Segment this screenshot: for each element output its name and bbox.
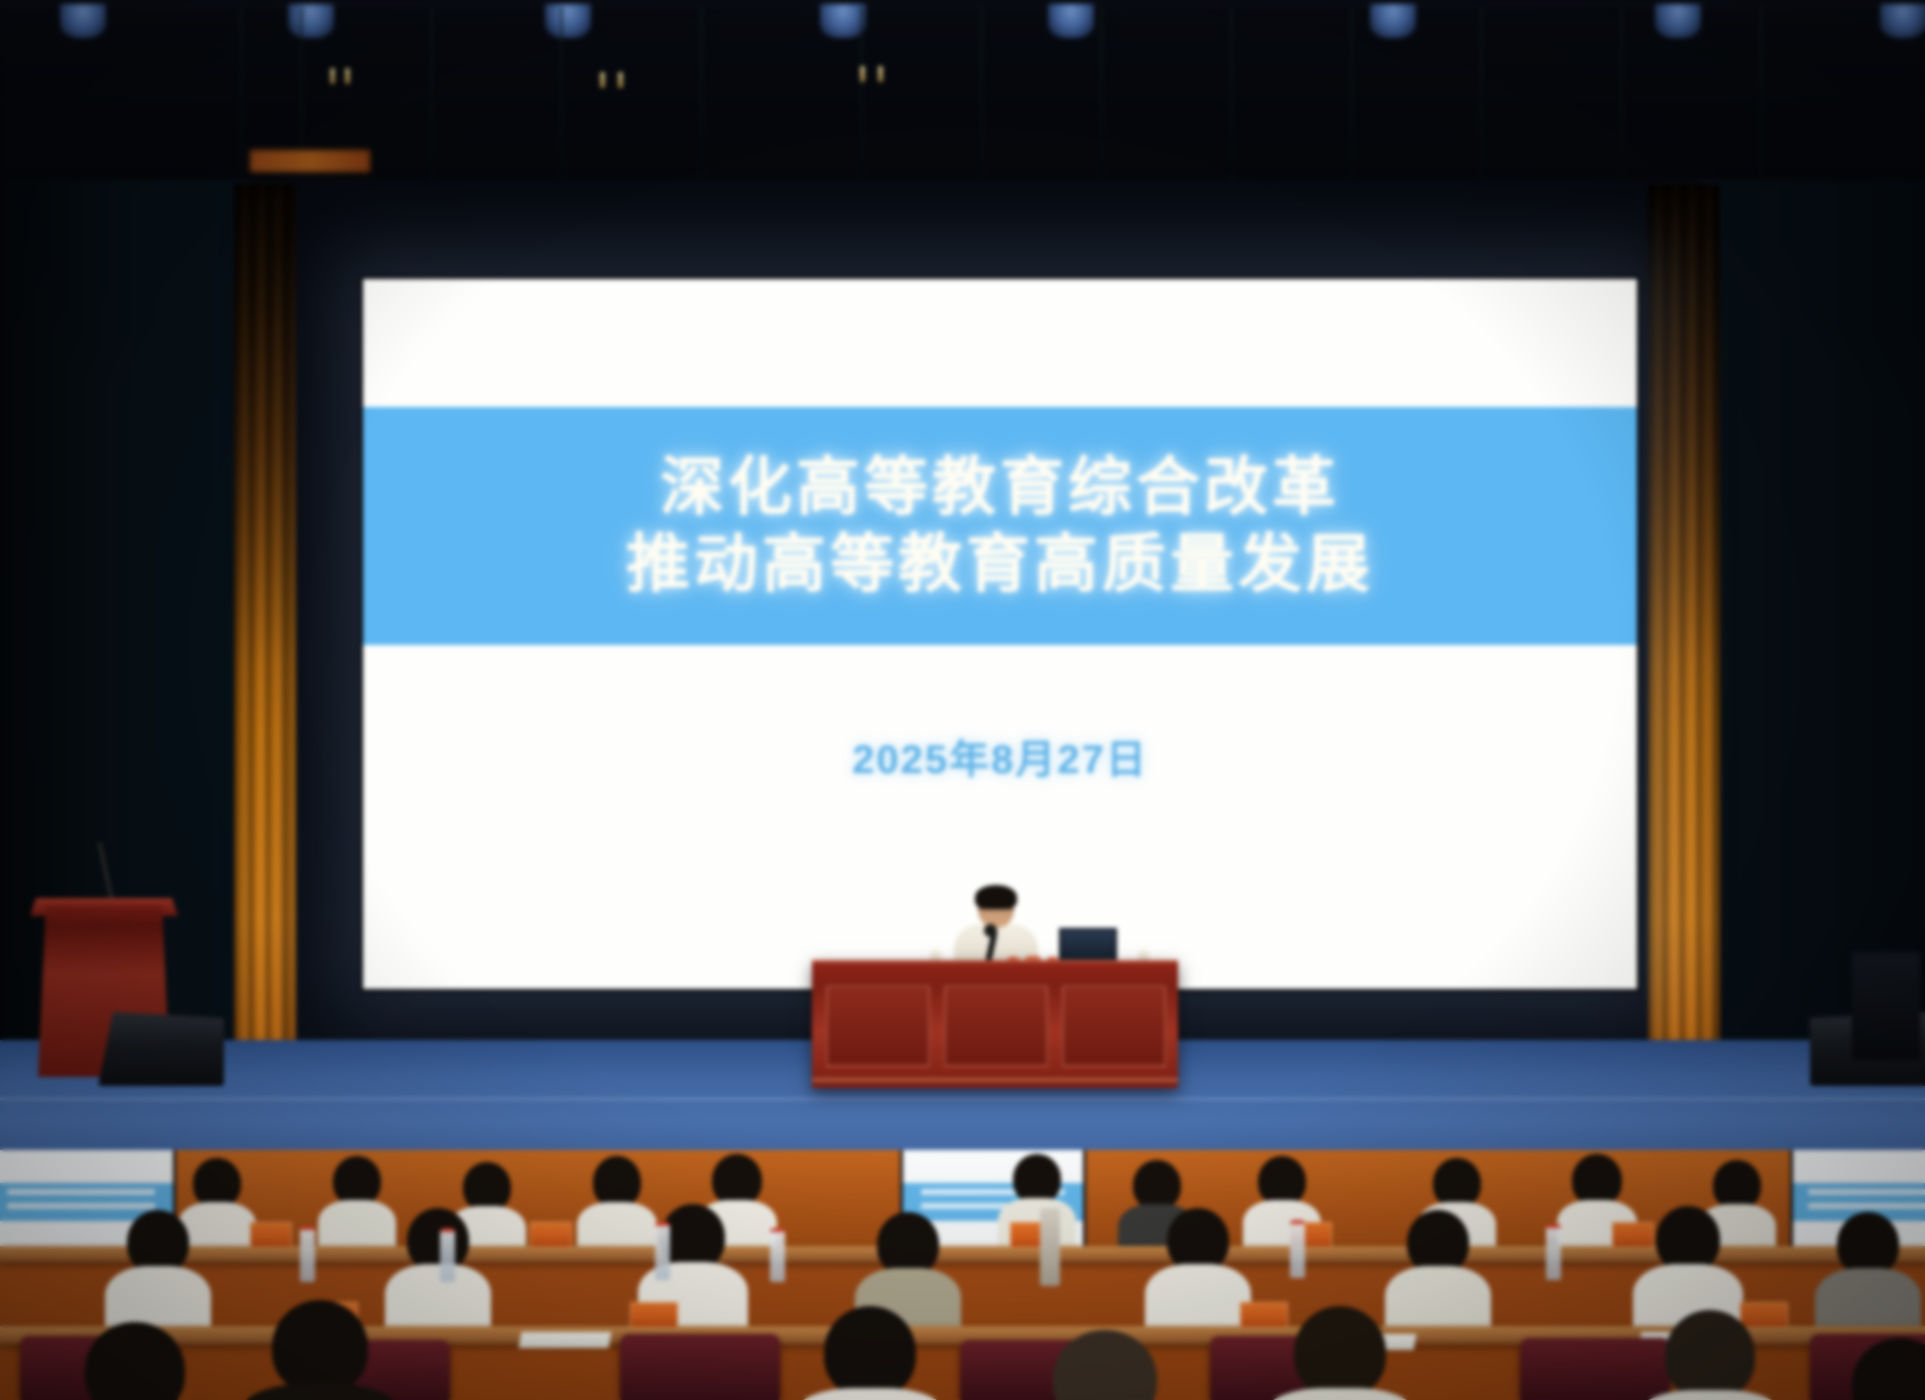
stage-spotlight-icon: [1048, 4, 1094, 38]
truss-lamp-icon: [860, 66, 865, 82]
truss-lamp-icon: [345, 68, 350, 84]
audience-person: [320, 1156, 394, 1252]
place-name-card: [530, 1222, 572, 1248]
truss-lamp-icon: [600, 72, 605, 88]
presentation-slide: 深化高等教育综合改革 推动高等教育高质量发展 2025年8月27日: [363, 279, 1637, 989]
water-bottle: [655, 1222, 670, 1280]
audience-person: [580, 1156, 654, 1252]
stage-spotlight-icon: [288, 4, 334, 38]
audience-person: [1150, 1208, 1246, 1328]
audience-person: [60, 1322, 210, 1400]
audience-person: [1270, 1306, 1410, 1400]
audience-person: [1830, 1338, 1925, 1400]
water-bottle: [1290, 1220, 1305, 1278]
audience-person: [1640, 1310, 1780, 1400]
place-name-card: [630, 1302, 678, 1328]
slide-title-line-1: 深化高等教育综合改革: [660, 454, 1340, 521]
truss-lamp-icon: [878, 66, 883, 82]
stage-spotlight-icon: [1655, 4, 1701, 38]
water-bottle: [440, 1228, 455, 1282]
truss-lamp-icon: [330, 68, 335, 84]
audience-person: [110, 1210, 206, 1330]
handout-paper: [519, 1332, 612, 1348]
audience-person: [1640, 1206, 1736, 1326]
speaker-hair: [975, 885, 1017, 909]
ceiling-drape: [1480, 8, 1483, 188]
audience-table: [0, 1246, 1925, 1262]
ceiling-drape: [980, 8, 983, 188]
audience-person: [1030, 1330, 1180, 1400]
stage-equipment-right: [1852, 952, 1920, 1060]
ceiling-drape: [430, 8, 433, 188]
monitor-slide-top: [0, 1150, 173, 1183]
conference-hall-photo: 深化高等教育综合改革 推动高等教育高质量发展 2025年8月27日: [0, 0, 1925, 1400]
audience-chair: [620, 1334, 780, 1400]
ceiling-drape: [1620, 8, 1623, 188]
audience-area: [0, 1150, 1925, 1400]
slide-top-whitespace: [363, 279, 1637, 407]
thermos-flask: [1040, 1208, 1060, 1286]
audience-person: [800, 1306, 940, 1400]
stage-curtain-left: [234, 184, 296, 1060]
place-name-card: [250, 1222, 292, 1248]
stage-spotlight-icon: [60, 4, 106, 38]
slide-date: 2025年8月27日: [852, 727, 1148, 785]
stage-spotlight-icon: [1370, 4, 1416, 38]
stage-spotlight-icon: [1880, 4, 1925, 38]
ceiling-drape: [860, 8, 863, 188]
audience-person: [250, 1300, 390, 1400]
ceiling-drape: [240, 8, 243, 188]
ceiling-drape: [560, 8, 563, 188]
truss-lamp-icon: [618, 72, 623, 88]
ceiling-drape: [1350, 8, 1353, 188]
water-bottle: [770, 1228, 785, 1282]
audience-person: [390, 1208, 486, 1328]
ceiling-drape: [700, 8, 703, 188]
head-table-panel: [826, 985, 930, 1067]
head-table-panel: [1062, 985, 1166, 1067]
slide-title-line-2: 推动高等教育高质量发展: [626, 531, 1374, 598]
laptop-screen: [1059, 928, 1117, 962]
stage-monitor-speaker-left: [98, 1012, 224, 1086]
ceiling-drape: [1100, 8, 1103, 188]
stage-curtain-right: [1648, 184, 1720, 1058]
ceiling-drape: [1230, 8, 1233, 188]
monitor-slide-top: [1793, 1150, 1925, 1183]
head-table: [812, 960, 1178, 1088]
water-bottle: [300, 1226, 315, 1282]
stage-backdrop-right: [1700, 180, 1925, 1060]
head-table-panel: [944, 985, 1048, 1067]
slide-title-band: 深化高等教育综合改革 推动高等教育高质量发展: [363, 407, 1637, 645]
microphone-head-icon: [984, 924, 997, 937]
ceiling-truss-area: [0, 0, 1925, 190]
water-bottle: [1546, 1224, 1561, 1280]
ceiling-drape: [1760, 8, 1763, 188]
audience-person: [1820, 1212, 1916, 1332]
stage-spotlight-icon: [545, 4, 591, 38]
amber-light-bar: [250, 150, 370, 172]
